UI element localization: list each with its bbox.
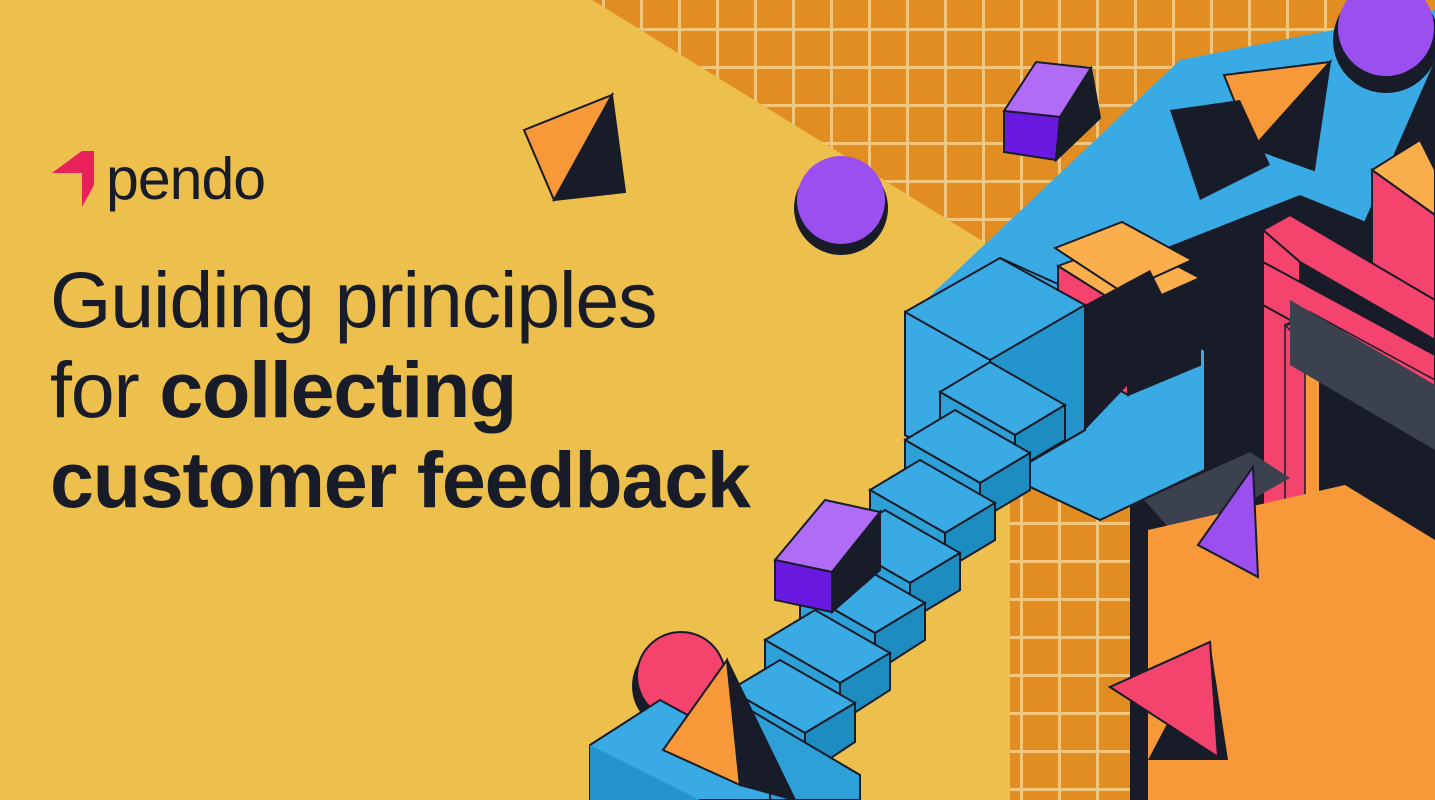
cover-canvas: pendo Guiding principles for collecting … [0,0,1435,800]
pendo-logo-wordmark: pendo [106,150,265,209]
headline-line-1: Guiding principles [50,255,850,345]
purple-cube-upper-right [1004,62,1100,160]
orange-pyramid-top-left [524,95,625,200]
pendo-logo[interactable]: pendo [52,150,265,208]
pendo-arrow-icon [52,151,94,207]
purple-sphere-upper [794,156,888,255]
headline-line-3: customer feedback [50,435,850,525]
headline-line-2-bold: collecting [159,345,516,434]
headline-line-2-light: for [50,345,159,434]
headline-line-2: for collecting [50,345,850,435]
page-title: Guiding principles for collecting custom… [50,255,850,525]
